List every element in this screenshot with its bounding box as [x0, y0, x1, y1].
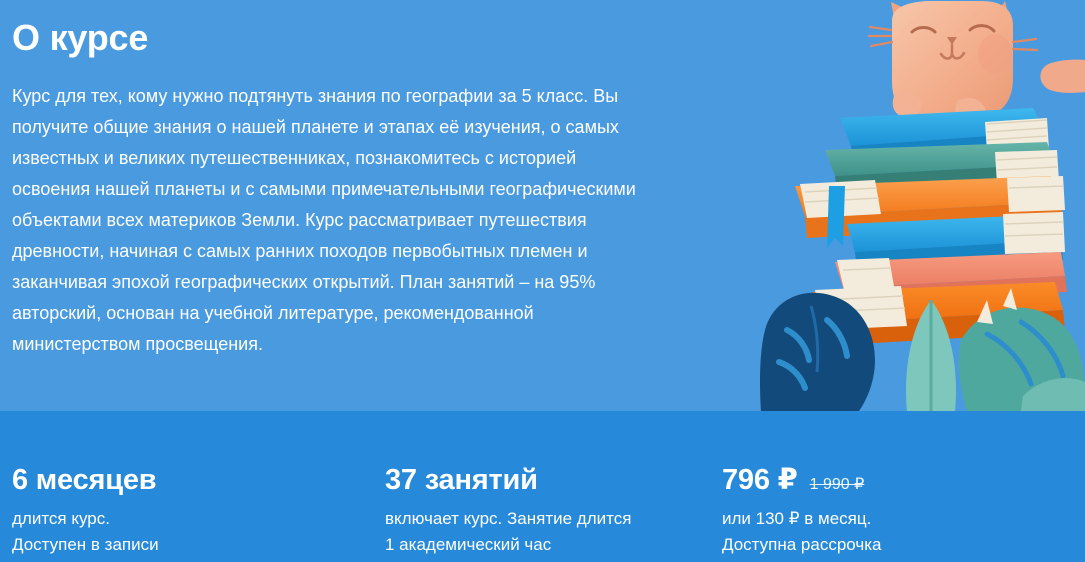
stat-lessons-headline: 37 занятий: [385, 463, 631, 497]
stat-price-line1: или 130 ₽ в месяц.: [722, 506, 881, 532]
book-orange-large: [795, 176, 1065, 248]
page-title: О курсе: [12, 16, 642, 60]
book-orange-bottom: [813, 282, 1065, 346]
cat-on-books-illustration: [755, 0, 1085, 411]
cat-tail-shape: [1040, 60, 1085, 93]
stat-duration-value: 6 месяцев: [12, 463, 156, 497]
about-description: Курс для тех, кому нужно подтянуть знани…: [12, 81, 642, 360]
about-copy: О курсе Курс для тех, кому нужно подтяну…: [12, 16, 642, 360]
stat-lessons-line1: включает курс. Занятие длится: [385, 506, 631, 532]
book-salmon: [835, 252, 1067, 302]
stat-price-line2: Доступна рассрочка: [722, 532, 881, 558]
stat-lessons: 37 занятий включает курс. Занятие длится…: [385, 463, 631, 558]
stat-price-old: 1 990 ₽: [810, 475, 865, 495]
stat-price-current: 796 ₽: [722, 463, 798, 497]
stat-price: 796 ₽ 1 990 ₽ или 130 ₽ в месяц. Доступн…: [722, 463, 881, 558]
book-blue-top: [840, 108, 1049, 164]
book-blue-middle: [847, 212, 1065, 272]
stat-price-headline: 796 ₽ 1 990 ₽: [722, 463, 881, 497]
course-stats-section: 6 месяцев длится курс. Доступен в записи…: [0, 411, 1085, 562]
monstera-leaves: [760, 288, 1085, 411]
stat-lessons-description: включает курс. Занятие длится 1 академич…: [385, 506, 631, 558]
stat-lessons-line2: 1 академический час: [385, 532, 631, 558]
stat-duration: 6 месяцев длится курс. Доступен в записи: [12, 463, 159, 558]
stats-row: 6 месяцев длится курс. Доступен в записи…: [0, 411, 1085, 562]
book-teal: [825, 142, 1059, 194]
stat-duration-line2: Доступен в записи: [12, 532, 159, 558]
stat-lessons-value: 37 занятий: [385, 463, 538, 497]
stat-duration-line1: длится курс.: [12, 506, 159, 532]
course-about-panel: О курсе Курс для тех, кому нужно подтяну…: [0, 0, 1085, 562]
stat-price-description: или 130 ₽ в месяц. Доступна рассрочка: [722, 506, 881, 558]
stat-duration-description: длится курс. Доступен в записи: [12, 506, 159, 558]
cat-figure: [869, 1, 1037, 126]
about-section: О курсе Курс для тех, кому нужно подтяну…: [0, 0, 1085, 411]
stat-duration-headline: 6 месяцев: [12, 463, 159, 497]
